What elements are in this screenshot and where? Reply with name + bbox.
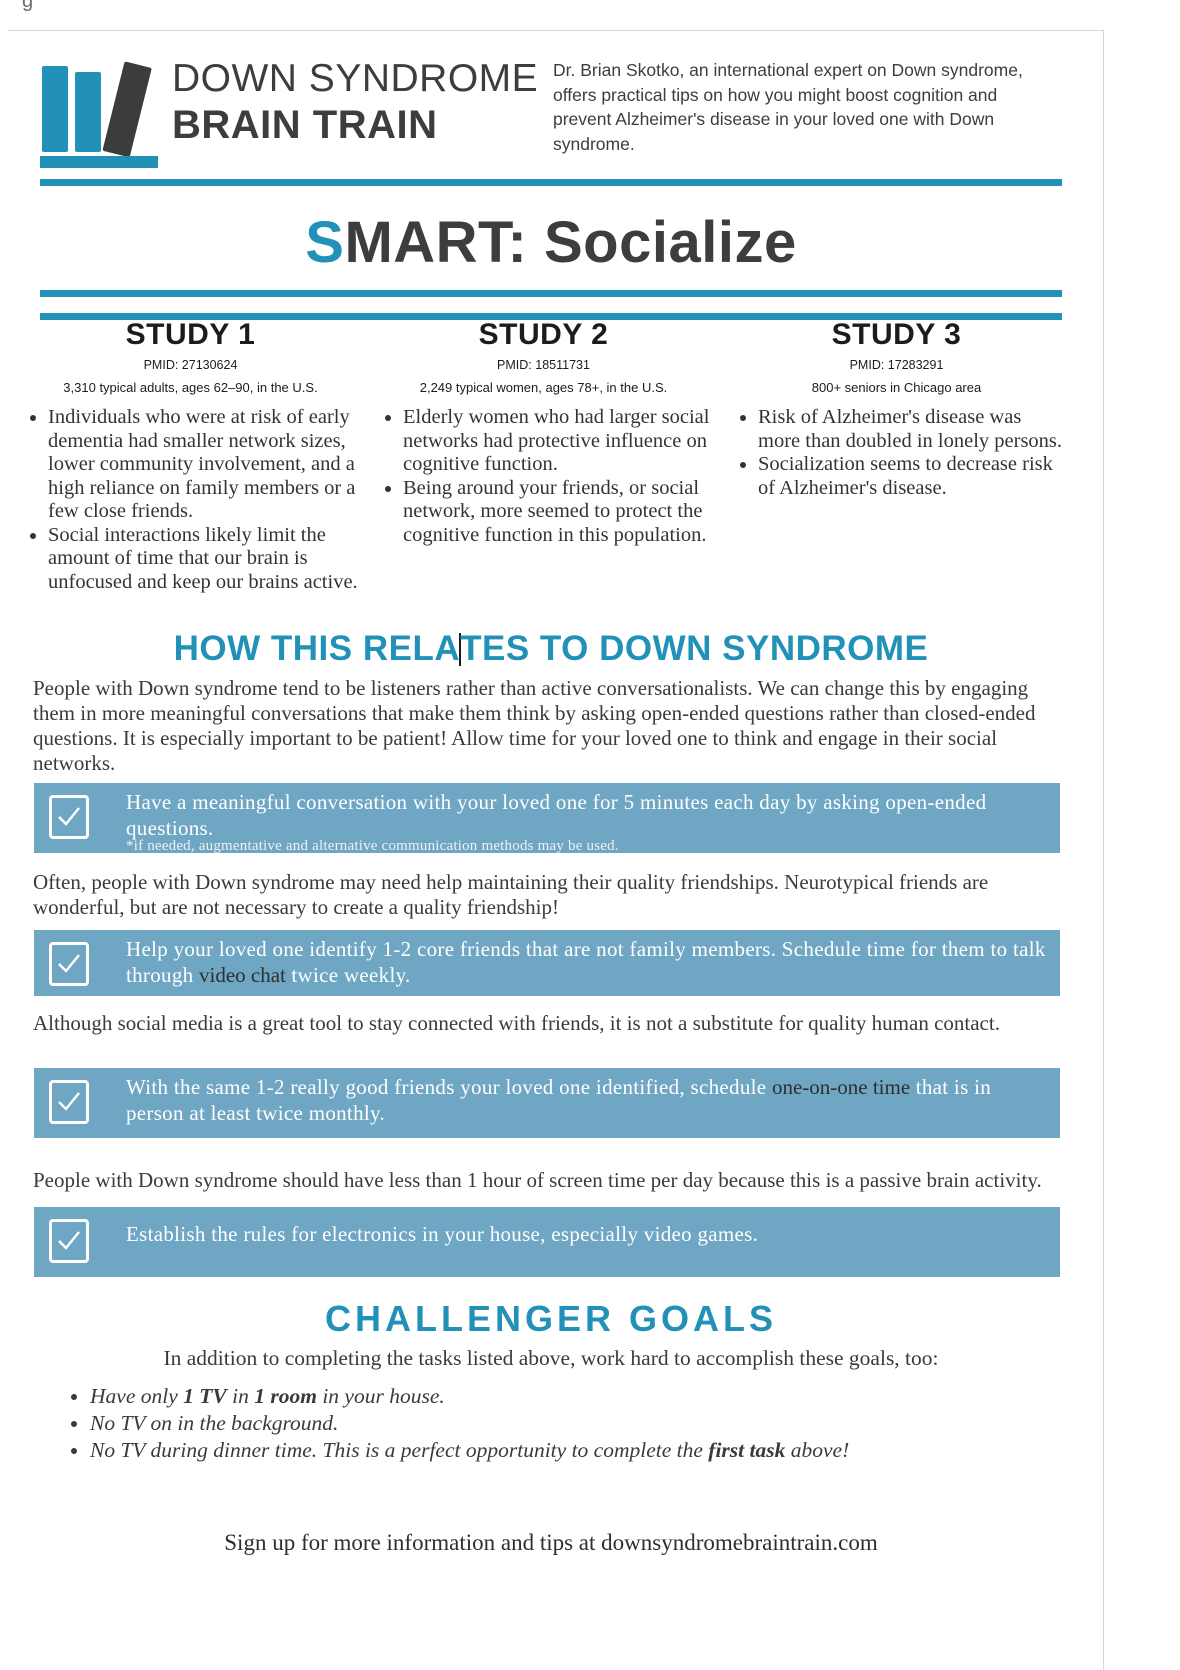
- task-4-text-main: Establish the rules for electronics in y…: [126, 1222, 758, 1246]
- task-band-3[interactable]: With the same 1-2 really good friends yo…: [34, 1068, 1060, 1138]
- relates-heading-part-1: HOW THIS RELA: [174, 629, 460, 668]
- study-column-2: STUDY 2 PMID: 18511731 2,249 typical wom…: [367, 315, 720, 594]
- divider-rule-top: [40, 179, 1062, 186]
- goal-1-bold-1: 1 TV: [183, 1384, 227, 1408]
- study-3-bullets: Risk of Alzheimer's disease was more tha…: [726, 406, 1067, 500]
- brand-line-2: BRAIN TRAIN: [172, 102, 538, 148]
- page-header: DOWN SYNDROME BRAIN TRAIN Dr. Brian Skot…: [40, 50, 1060, 170]
- study-3-sample: 800+ seniors in Chicago area: [726, 379, 1067, 397]
- goal-1-pre: Have only: [90, 1384, 183, 1408]
- title-accent-letter: S: [305, 210, 344, 275]
- check-icon: [57, 1091, 81, 1113]
- study-2-bullets: Elderly women who had larger social netw…: [373, 406, 714, 547]
- task-1-note: *if needed, augmentative and alternative…: [126, 837, 619, 855]
- check-icon: [57, 806, 81, 828]
- divider-rule-mid-upper: [40, 290, 1062, 297]
- brand-line-1: DOWN SYNDROME: [172, 56, 538, 102]
- paragraph-1: People with Down syndrome tend to be lis…: [33, 676, 1063, 776]
- footer-signup: Sign up for more information and tips at…: [40, 1528, 1062, 1558]
- challenger-intro: In addition to completing the tasks list…: [40, 1345, 1062, 1372]
- book-shape-3: [102, 61, 151, 157]
- task-band-1[interactable]: Have a meaningful conversation with your…: [34, 783, 1060, 853]
- brand-logo: DOWN SYNDROME BRAIN TRAIN: [40, 50, 540, 170]
- paragraph-2: Often, people with Down syndrome may nee…: [33, 870, 1063, 920]
- page-title: SMART: Socialize: [40, 207, 1062, 279]
- study-1-heading: STUDY 1: [20, 317, 361, 353]
- list-item: Being around your friends, or social net…: [403, 477, 714, 548]
- brand-wordmark: DOWN SYNDROME BRAIN TRAIN: [172, 56, 538, 148]
- paragraph-4: People with Down syndrome should have le…: [33, 1168, 1063, 1193]
- list-item: Risk of Alzheimer's disease was more tha…: [758, 406, 1067, 453]
- task-2-text: Help your loved one identify 1-2 core fr…: [126, 936, 1052, 988]
- study-3-heading: STUDY 3: [726, 317, 1067, 353]
- task-3-emphasis: one-on-one time: [772, 1075, 910, 1099]
- page-edge-right: [1103, 30, 1104, 1670]
- page-edge-top: [8, 30, 1104, 31]
- goal-3-pre: No TV during dinner time. This is a perf…: [90, 1438, 708, 1462]
- check-icon: [57, 1230, 81, 1252]
- book-shape-2: [75, 72, 101, 152]
- check-icon: [57, 953, 81, 975]
- checkbox-2[interactable]: [49, 942, 89, 986]
- header-blurb: Dr. Brian Skotko, an international exper…: [553, 58, 1058, 156]
- task-band-4[interactable]: Establish the rules for electronics in y…: [34, 1207, 1060, 1277]
- book-shape-1: [42, 66, 68, 152]
- section-heading-relates: HOW THIS RELATES TO DOWN SYNDROME: [40, 627, 1062, 671]
- shelf-bar-icon: [40, 156, 158, 168]
- task-1-text: Have a meaningful conversation with your…: [126, 789, 1052, 841]
- section-heading-challenger: CHALLENGER GOALS: [40, 1296, 1062, 1342]
- checkbox-3[interactable]: [49, 1080, 89, 1124]
- task-3-text-part-1: With the same 1-2 really good friends yo…: [126, 1075, 772, 1099]
- task-1-text-main: Have a meaningful conversation with your…: [126, 790, 986, 840]
- studies-row: STUDY 1 PMID: 27130624 3,310 typical adu…: [14, 315, 1074, 594]
- study-2-pmid: PMID: 18511731: [373, 356, 714, 374]
- poster-page: g DOWN SYNDROME BRAIN TRAIN Dr. Brian Sk…: [0, 0, 1180, 1670]
- goal-1-post: in your house.: [317, 1384, 445, 1408]
- goal-1-mid: in: [227, 1384, 254, 1408]
- challenger-goal-list: Have only 1 TV in 1 room in your house. …: [64, 1383, 1090, 1464]
- list-item: Elderly women who had larger social netw…: [403, 406, 714, 477]
- study-1-pmid: PMID: 27130624: [20, 356, 361, 374]
- goal-3-bold-1: first task: [708, 1438, 785, 1462]
- list-item: Have only 1 TV in 1 room in your house.: [90, 1383, 1090, 1410]
- study-2-sample: 2,249 typical women, ages 78+, in the U.…: [373, 379, 714, 397]
- study-3-pmid: PMID: 17283291: [726, 356, 1067, 374]
- goal-1-bold-2: 1 room: [254, 1384, 317, 1408]
- list-item: Individuals who were at risk of early de…: [48, 406, 361, 524]
- task-4-text: Establish the rules for electronics in y…: [126, 1221, 1052, 1247]
- list-item: No TV on in the background.: [90, 1410, 1090, 1437]
- task-band-2[interactable]: Help your loved one identify 1-2 core fr…: [34, 930, 1060, 996]
- list-item: Socialization seems to decrease risk of …: [758, 453, 1067, 500]
- goal-3-post: above!: [785, 1438, 849, 1462]
- list-item: Social interactions likely limit the amo…: [48, 524, 361, 595]
- books-icon: [40, 58, 165, 166]
- study-2-heading: STUDY 2: [373, 317, 714, 353]
- study-1-sample: 3,310 typical adults, ages 62–90, in the…: [20, 379, 361, 397]
- checkbox-1[interactable]: [49, 795, 89, 839]
- list-item: No TV during dinner time. This is a perf…: [90, 1437, 1090, 1464]
- title-rest: MART: Socialize: [344, 210, 796, 275]
- paragraph-3: Although social media is a great tool to…: [33, 1011, 1063, 1036]
- task-2-emphasis: video chat: [199, 963, 286, 987]
- checkbox-4[interactable]: [49, 1219, 89, 1263]
- study-1-bullets: Individuals who were at risk of early de…: [20, 406, 361, 594]
- task-2-text-part-2: twice weekly.: [286, 963, 411, 987]
- goal-2-pre: No TV on in the background.: [90, 1411, 338, 1435]
- task-3-text: With the same 1-2 really good friends yo…: [126, 1074, 1052, 1126]
- study-column-1: STUDY 1 PMID: 27130624 3,310 typical adu…: [14, 315, 367, 594]
- relates-heading-part-2: TES TO DOWN SYNDROME: [460, 629, 928, 668]
- study-column-3: STUDY 3 PMID: 17283291 800+ seniors in C…: [720, 315, 1073, 594]
- stray-character: g: [22, 0, 33, 13]
